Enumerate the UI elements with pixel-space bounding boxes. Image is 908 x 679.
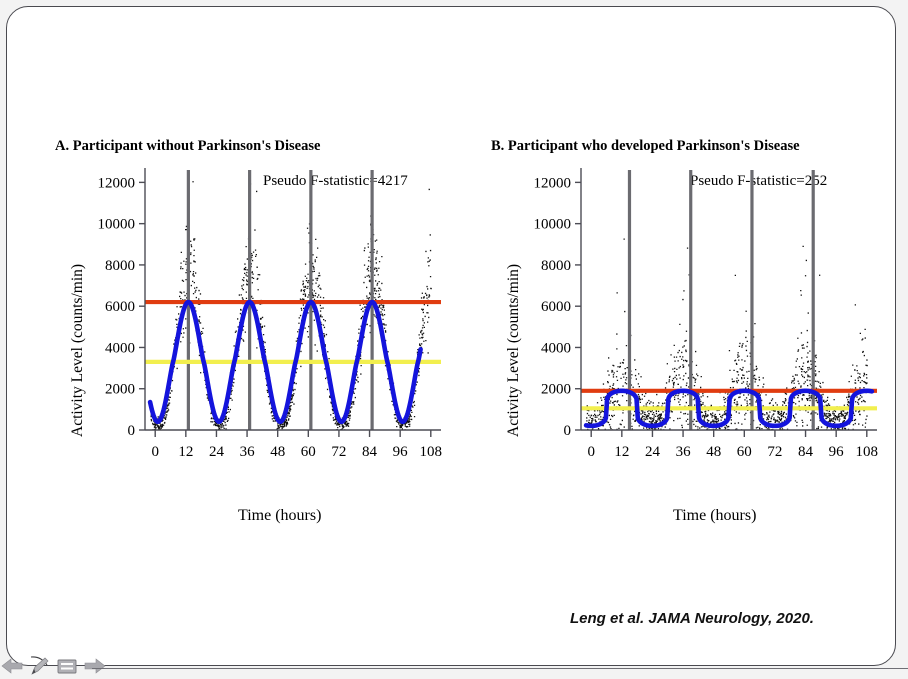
- panel-b-title: B. Participant who developed Parkinson's…: [491, 138, 800, 155]
- svg-text:8000: 8000: [105, 258, 135, 274]
- svg-text:36: 36: [240, 444, 256, 460]
- svg-text:108: 108: [856, 444, 879, 460]
- svg-text:12: 12: [614, 444, 629, 460]
- panel-a-plot: 0200040006000800010000120000122436486072…: [77, 162, 447, 492]
- svg-text:0: 0: [151, 444, 159, 460]
- svg-text:24: 24: [209, 444, 225, 460]
- svg-text:12: 12: [178, 444, 193, 460]
- svg-text:96: 96: [829, 444, 845, 460]
- svg-text:60: 60: [737, 444, 752, 460]
- citation-text: Leng et al. JAMA Neurology, 2020.: [570, 610, 814, 627]
- svg-text:84: 84: [798, 444, 814, 460]
- svg-text:12000: 12000: [98, 175, 136, 191]
- panel-b-plot: 0200040006000800010000120000122436486072…: [513, 162, 883, 492]
- slide-menu-icon[interactable]: [54, 654, 80, 678]
- svg-text:48: 48: [270, 444, 285, 460]
- presentation-toolbar[interactable]: [0, 652, 112, 679]
- chart-panel-a: A. Participant without Parkinson's Disea…: [7, 7, 462, 665]
- next-slide-icon[interactable]: [81, 654, 107, 678]
- svg-text:6000: 6000: [105, 299, 135, 315]
- svg-text:2000: 2000: [541, 382, 571, 398]
- previous-slide-icon[interactable]: [0, 654, 26, 678]
- svg-text:24: 24: [645, 444, 661, 460]
- svg-text:108: 108: [420, 444, 443, 460]
- svg-text:48: 48: [706, 444, 721, 460]
- panel-a-x-axis-label: Time (hours): [238, 507, 321, 525]
- svg-text:6000: 6000: [541, 299, 571, 315]
- panel-b-x-axis-label: Time (hours): [673, 507, 756, 525]
- svg-text:72: 72: [331, 444, 346, 460]
- svg-text:8000: 8000: [541, 258, 571, 274]
- svg-text:2000: 2000: [105, 382, 135, 398]
- svg-text:10000: 10000: [98, 217, 136, 233]
- chart-panel-b: B. Participant who developed Parkinson's…: [447, 7, 896, 665]
- svg-text:10000: 10000: [534, 217, 572, 233]
- svg-text:36: 36: [676, 444, 692, 460]
- svg-text:0: 0: [128, 423, 136, 439]
- svg-text:12000: 12000: [534, 175, 572, 191]
- toolbar-baseline: [92, 668, 908, 669]
- panel-a-title: A. Participant without Parkinson's Disea…: [55, 138, 320, 155]
- pen-icon[interactable]: [27, 654, 53, 678]
- svg-text:0: 0: [564, 423, 572, 439]
- svg-text:72: 72: [767, 444, 782, 460]
- svg-text:84: 84: [362, 444, 378, 460]
- svg-text:96: 96: [393, 444, 409, 460]
- svg-text:60: 60: [301, 444, 316, 460]
- svg-text:4000: 4000: [541, 340, 571, 356]
- svg-text:0: 0: [587, 444, 595, 460]
- slide-canvas: A. Participant without Parkinson's Disea…: [6, 6, 896, 666]
- svg-text:4000: 4000: [105, 340, 135, 356]
